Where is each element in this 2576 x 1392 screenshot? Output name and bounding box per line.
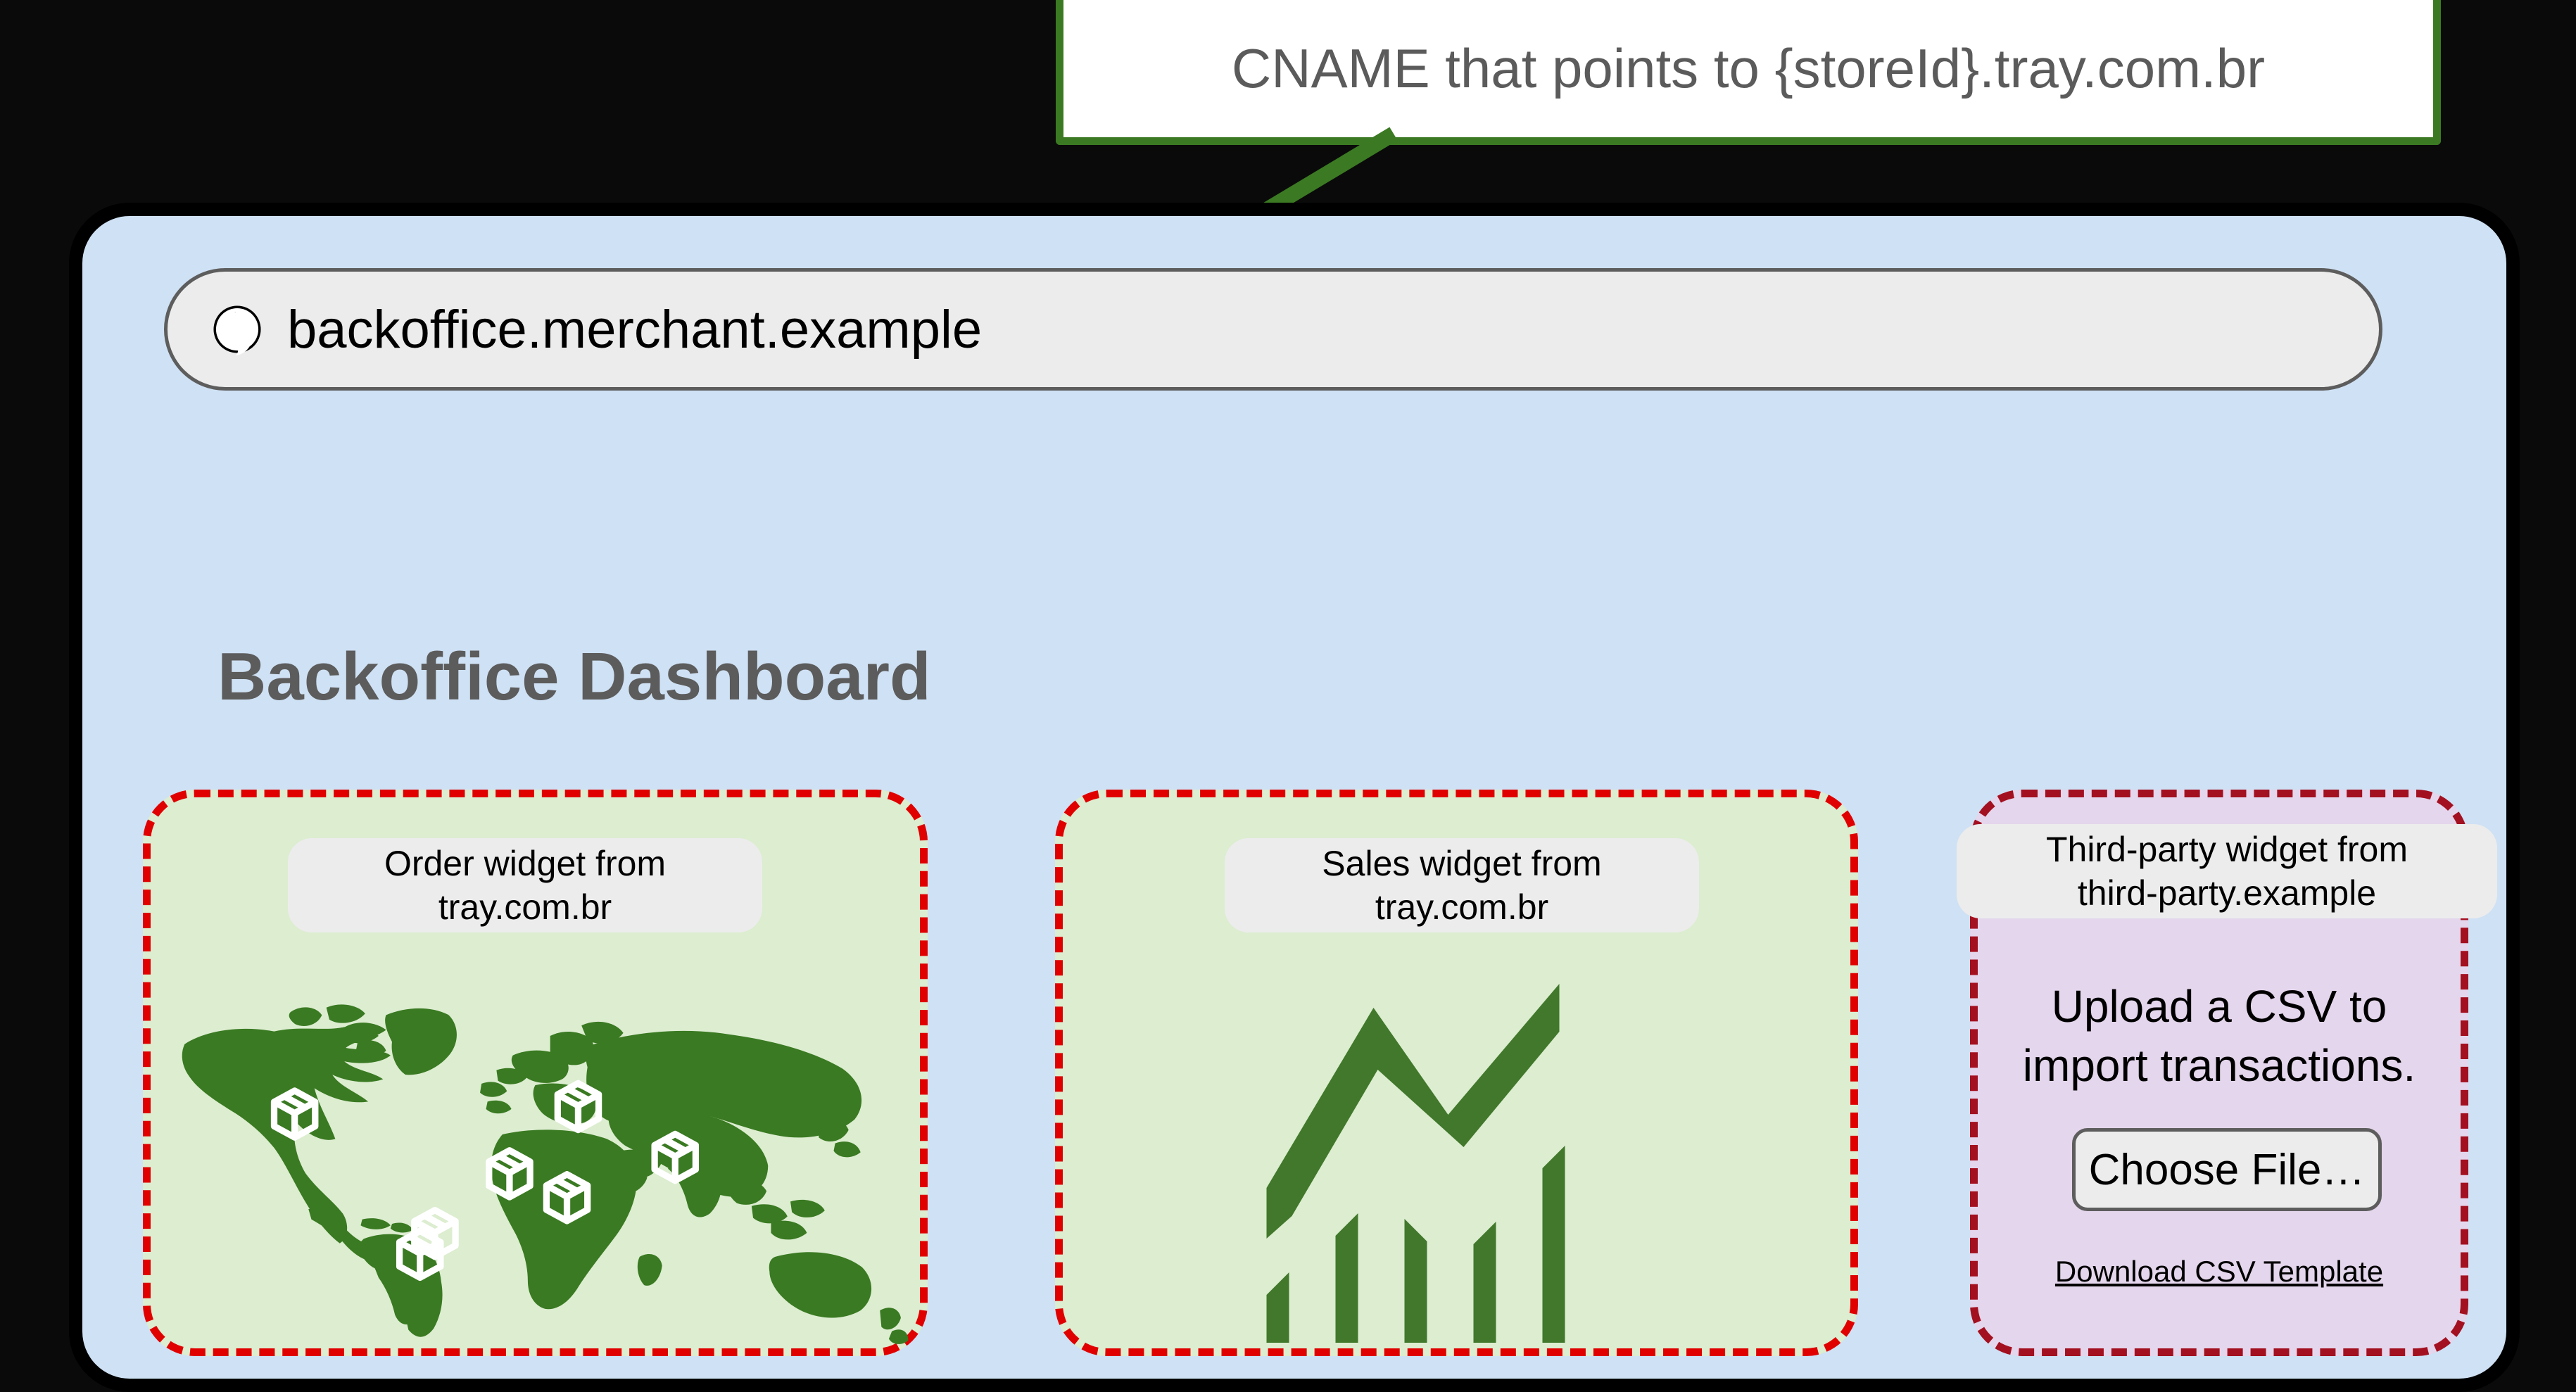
card-label-line2: tray.com.br [1375, 885, 1548, 929]
bar-5 [1543, 1146, 1565, 1343]
card-sales-widget-label: Sales widget from tray.com.br [1225, 838, 1699, 932]
widget-cards-row: Order widget from tray.com.br [143, 790, 2468, 1356]
choose-file-button[interactable]: Choose File… [2072, 1128, 2382, 1211]
globe-icon [211, 303, 263, 355]
download-csv-template-link[interactable]: Download CSV Template [1978, 1255, 2461, 1289]
card-third-party-widget-label: Third-party widget from third-party.exam… [1957, 824, 2497, 918]
browser-window: backoffice.merchant.example Backoffice D… [69, 203, 2520, 1392]
card-sales-widget: Sales widget from tray.com.br [1055, 790, 1858, 1356]
bar-3 [1405, 1219, 1427, 1343]
card-third-party-widget: Third-party widget from third-party.exam… [1970, 790, 2468, 1356]
page-title: Backoffice Dashboard [217, 638, 931, 716]
url-bar[interactable]: backoffice.merchant.example [164, 268, 2382, 391]
bar-4 [1474, 1222, 1496, 1343]
bar-1 [1267, 1272, 1289, 1343]
upload-line1: Upload a CSV to [1978, 977, 2461, 1036]
callout-box: CNAME that points to {storeId}.tray.com.… [1056, 0, 2441, 145]
world-map-landmasses [182, 1004, 909, 1344]
growth-chart-art [1063, 977, 1850, 1343]
card-order-widget-label: Order widget from tray.com.br [288, 838, 762, 932]
card-order-widget: Order widget from tray.com.br [143, 790, 928, 1356]
upload-instructions: Upload a CSV to import transactions. [1978, 977, 2461, 1096]
card-label-line1: Third-party widget from [2046, 828, 2408, 871]
card-label-line1: Sales widget from [1322, 842, 1601, 885]
card-label-line2: third-party.example [2078, 871, 2376, 915]
bar-2 [1336, 1213, 1358, 1343]
card-label-line1: Order widget from [384, 842, 666, 885]
card-label-line2: tray.com.br [438, 885, 612, 929]
trend-line [1267, 984, 1560, 1239]
upload-line2: import transactions. [1978, 1036, 2461, 1095]
world-map-art [151, 973, 920, 1346]
callout-text: CNAME that points to {storeId}.tray.com.… [1232, 37, 2265, 101]
url-text: backoffice.merchant.example [287, 299, 982, 360]
